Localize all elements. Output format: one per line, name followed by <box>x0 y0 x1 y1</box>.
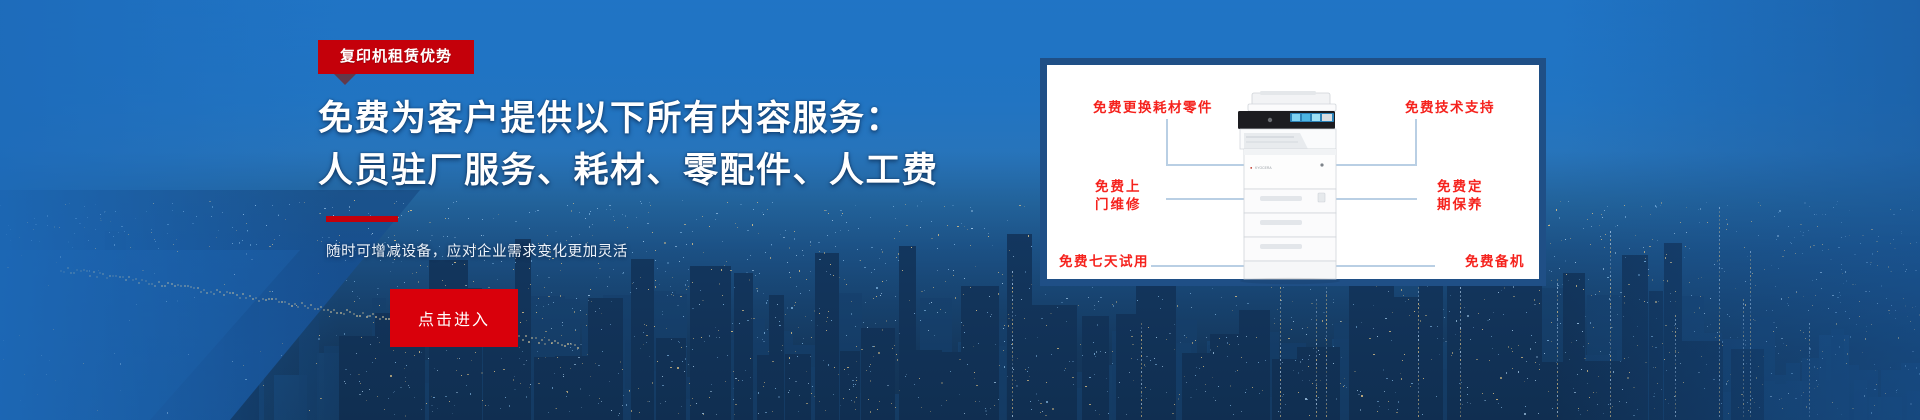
promo-banner: 复印机租赁优势 免费为客户提供以下所有内容服务： 人员驻厂服务、耗材、零配件、人… <box>0 0 1920 420</box>
feature-label-free-backup-machine: 免费备机 <box>1465 253 1525 271</box>
headline-line-2: 人员驻厂服务、耗材、零配件、人工费 <box>318 148 878 194</box>
badge-tail-icon <box>334 74 356 85</box>
feature-label-free-seven-day-trial: 免费七天试用 <box>1059 253 1149 271</box>
banner-text-column: 复印机租赁优势 免费为客户提供以下所有内容服务： 人员驻厂服务、耗材、零配件、人… <box>318 40 878 347</box>
banner-subtitle: 随时可增减设备，应对企业需求变化更加灵活 <box>326 240 878 261</box>
feature-label-free-regular-maintenance: 免费定期保养 <box>1437 178 1495 214</box>
enter-button[interactable]: 点击进入 <box>390 289 518 347</box>
headline: 免费为客户提供以下所有内容服务： 人员驻厂服务、耗材、零配件、人工费 <box>318 96 878 194</box>
feature-label-free-consumable-replacement: 免费更换耗材零件 <box>1093 99 1213 117</box>
connector-line <box>1166 119 1168 165</box>
connector-line <box>1415 119 1417 165</box>
headline-divider <box>326 216 398 222</box>
feature-label-free-onsite-repair: 免费上门维修 <box>1095 178 1155 214</box>
feature-label-free-tech-support: 免费技术支持 <box>1405 99 1495 117</box>
headline-line-1: 免费为客户提供以下所有内容服务： <box>318 96 878 142</box>
copier-illustration: ● KYOCERA <box>1230 91 1356 285</box>
badge: 复印机租赁优势 <box>318 40 474 74</box>
features-panel: ● KYOCERA 免费更换耗材零件 免费上门维修 免费七天试用 免费技 <box>1040 58 1546 286</box>
badge-label: 复印机租赁优势 <box>318 40 474 74</box>
svg-text:KYOCERA: KYOCERA <box>1255 166 1272 170</box>
